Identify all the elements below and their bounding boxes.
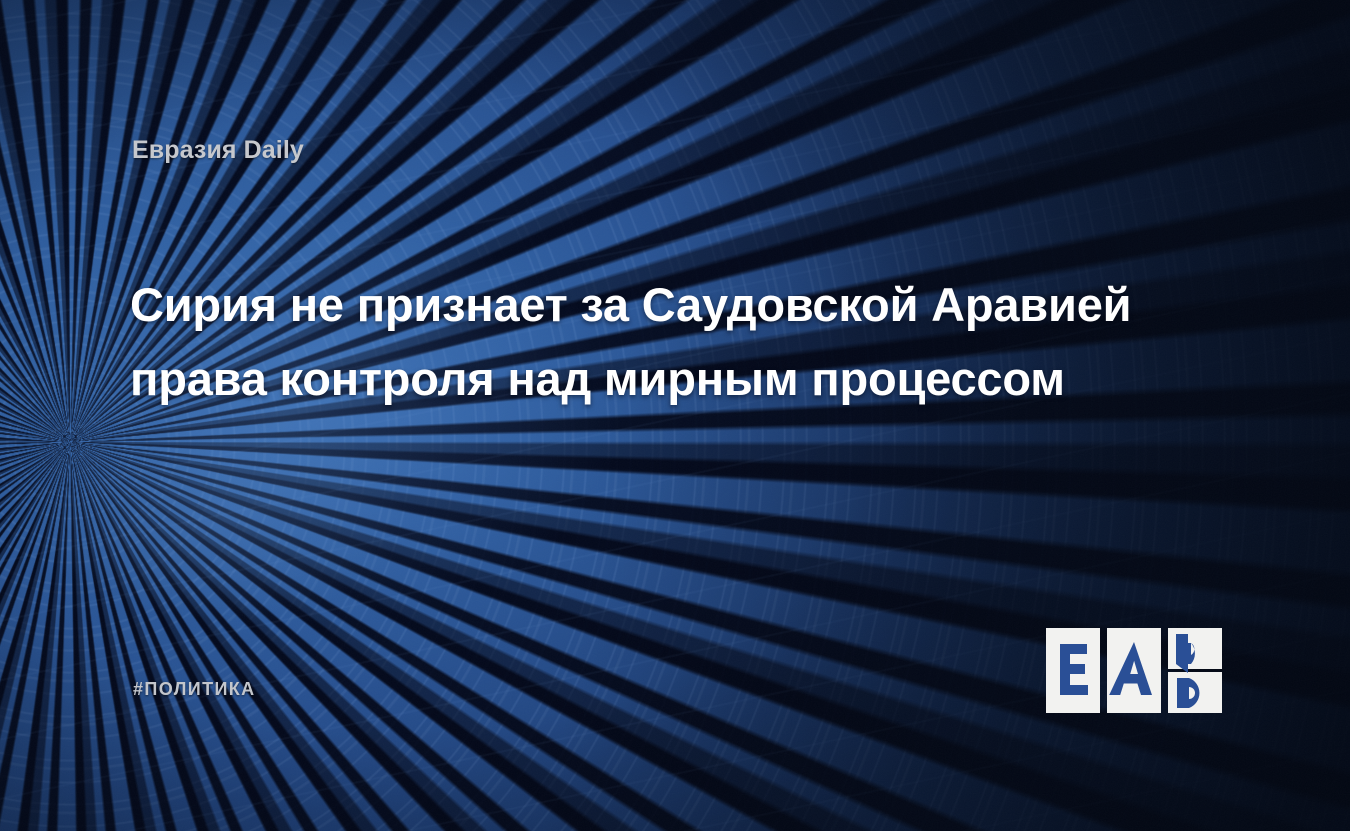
news-card: Евразия Daily Сирия не признает за Саудо…	[0, 0, 1350, 831]
page-title: Сирия не признает за Саудовской Аравией …	[130, 268, 1170, 416]
logo-cell-d-split	[1168, 628, 1222, 713]
eadaily-logo	[1046, 628, 1222, 713]
brand-label: Евразия Daily	[132, 136, 304, 165]
card-content: Евразия Daily Сирия не признает за Саудо…	[0, 0, 1350, 831]
logo-cell-e	[1046, 628, 1100, 713]
logo-cell-a	[1107, 628, 1161, 713]
category-hashtag: #ПОЛИТИКА	[133, 679, 256, 700]
